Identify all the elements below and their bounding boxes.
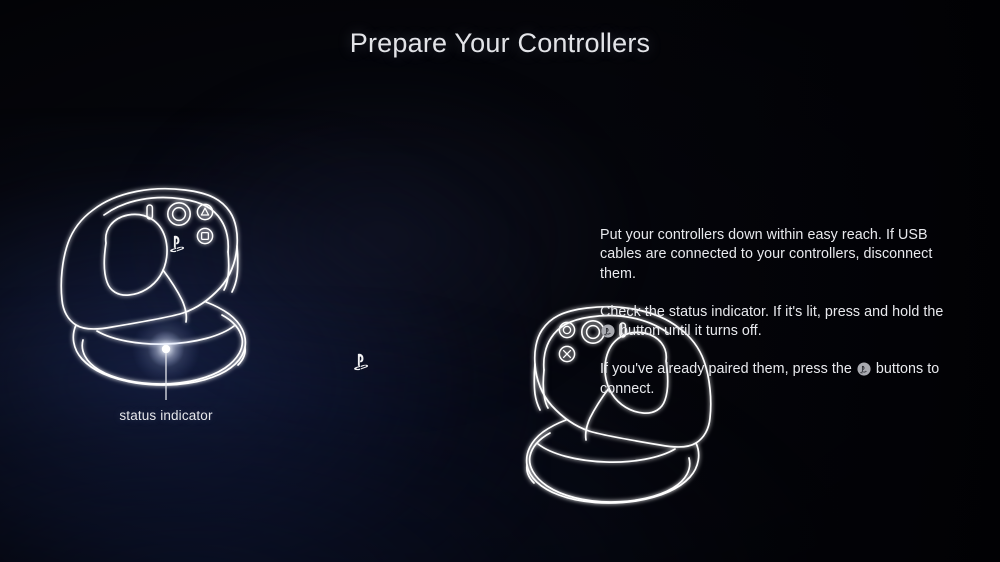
prepare-controllers-screen: Prepare Your Controllers <box>0 0 1000 562</box>
status-indicator-callout <box>132 315 200 400</box>
instructions-copy: Put your controllers down within easy re… <box>600 226 950 399</box>
ps-logo-right <box>354 354 368 370</box>
square-button <box>197 228 212 243</box>
thumbstick-left <box>168 203 190 225</box>
status-indicator-label: status indicator <box>66 408 266 423</box>
paragraph-usb: Put your controllers down within easy re… <box>600 226 950 284</box>
ps-logo-left <box>170 236 184 252</box>
status-indicator-dot <box>162 345 170 353</box>
ps-button-icon <box>601 324 615 338</box>
paragraph-status-indicator: Check the status indicator. If it's lit,… <box>600 303 950 342</box>
paragraph-pairing: If you've already paired them, press the… <box>600 360 950 399</box>
ps-button-icon <box>857 362 871 376</box>
